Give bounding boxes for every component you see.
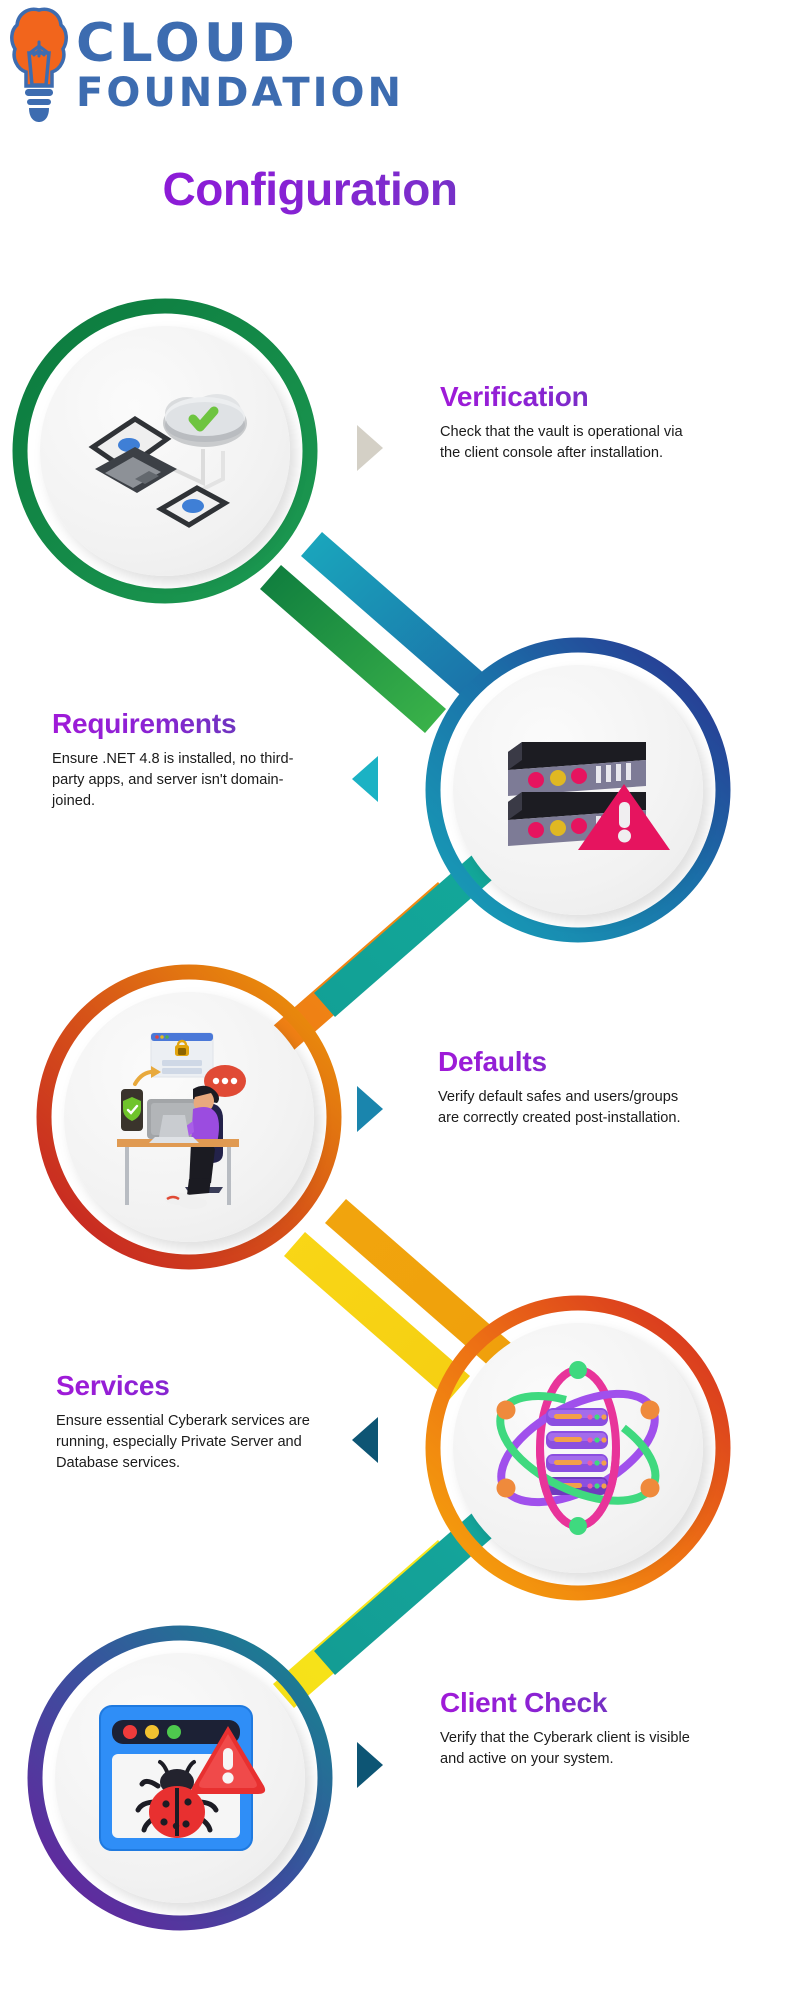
person-at-desk-security-icon	[89, 1017, 289, 1217]
infographic-page: CLOUD FOUNDATION Configuration	[0, 0, 800, 1996]
step-desc-defaults: Verify default safes and users/groups ar…	[438, 1087, 690, 1129]
step-illustration-defaults	[64, 992, 314, 1242]
step-title-verification: Verification	[440, 381, 690, 413]
step-text-client-check: Client Check Verify that the Cyberark cl…	[440, 1687, 702, 1770]
step-circle-verification[interactable]	[10, 296, 320, 606]
bug-browser-warning-icon	[80, 1678, 280, 1878]
step-circle-requirements[interactable]	[423, 635, 733, 945]
step-desc-requirements: Ensure .NET 4.8 is installed, no third-p…	[52, 749, 314, 812]
laptop-cloud-tablet-icon	[65, 351, 265, 551]
step-illustration-verification	[40, 326, 290, 576]
step-text-defaults: Defaults Verify default safes and users/…	[438, 1046, 690, 1129]
arrow-marker-services	[352, 1417, 378, 1463]
server-rack-warning-icon	[478, 690, 678, 890]
arrow-marker-client-check	[357, 1742, 383, 1788]
step-illustration-services	[453, 1323, 703, 1573]
step-text-requirements: Requirements Ensure .NET 4.8 is installe…	[52, 708, 314, 812]
step-text-services: Services Ensure essential Cyberark servi…	[56, 1370, 318, 1474]
step-desc-client-check: Verify that the Cyberark client is visib…	[440, 1728, 702, 1770]
arrow-marker-requirements	[352, 756, 378, 802]
step-desc-verification: Check that the vault is operational via …	[440, 422, 690, 464]
arrow-marker-verification	[357, 425, 383, 471]
step-title-services: Services	[56, 1370, 318, 1402]
step-title-requirements: Requirements	[52, 708, 314, 740]
step-title-defaults: Defaults	[438, 1046, 690, 1078]
step-desc-services: Ensure essential Cyberark services are r…	[56, 1411, 318, 1474]
step-illustration-client-check	[55, 1653, 305, 1903]
step-circle-defaults[interactable]	[34, 962, 344, 1272]
atom-server-icon	[478, 1348, 678, 1548]
arrow-marker-defaults	[357, 1086, 383, 1132]
step-circle-client-check[interactable]	[25, 1623, 335, 1933]
step-circle-services[interactable]	[423, 1293, 733, 1603]
step-title-client-check: Client Check	[440, 1687, 702, 1719]
step-text-verification: Verification Check that the vault is ope…	[440, 381, 690, 464]
step-illustration-requirements	[453, 665, 703, 915]
